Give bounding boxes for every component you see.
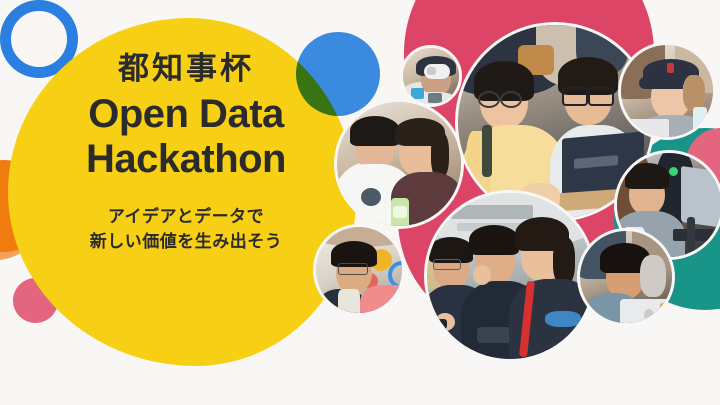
- tagline-line1: アイデアとデータで: [52, 204, 320, 230]
- photo-audience-trio: [424, 190, 596, 362]
- tagline-line2: 新しい価値を生み出そう: [52, 229, 320, 255]
- photo-vr-headset: [400, 45, 462, 107]
- photo-participant-macbook-smiling: [577, 228, 675, 326]
- headline-block: 都知事杯 Open Data Hackathon アイデアとデータで 新しい価値…: [52, 52, 320, 255]
- headline-jp-prefix: 都知事杯: [52, 52, 320, 86]
- headline-en-line1: Open Data: [52, 92, 320, 137]
- key-visual-canvas: 都知事杯 Open Data Hackathon アイデアとデータで 新しい価値…: [0, 0, 720, 405]
- headline-tagline: アイデアとデータで 新しい価値を生み出そう: [52, 204, 320, 255]
- photo-participant-with-cap: [618, 42, 716, 140]
- headline-en-line2: Hackathon: [52, 137, 320, 182]
- photo-participant-glasses-smiling: [313, 224, 405, 316]
